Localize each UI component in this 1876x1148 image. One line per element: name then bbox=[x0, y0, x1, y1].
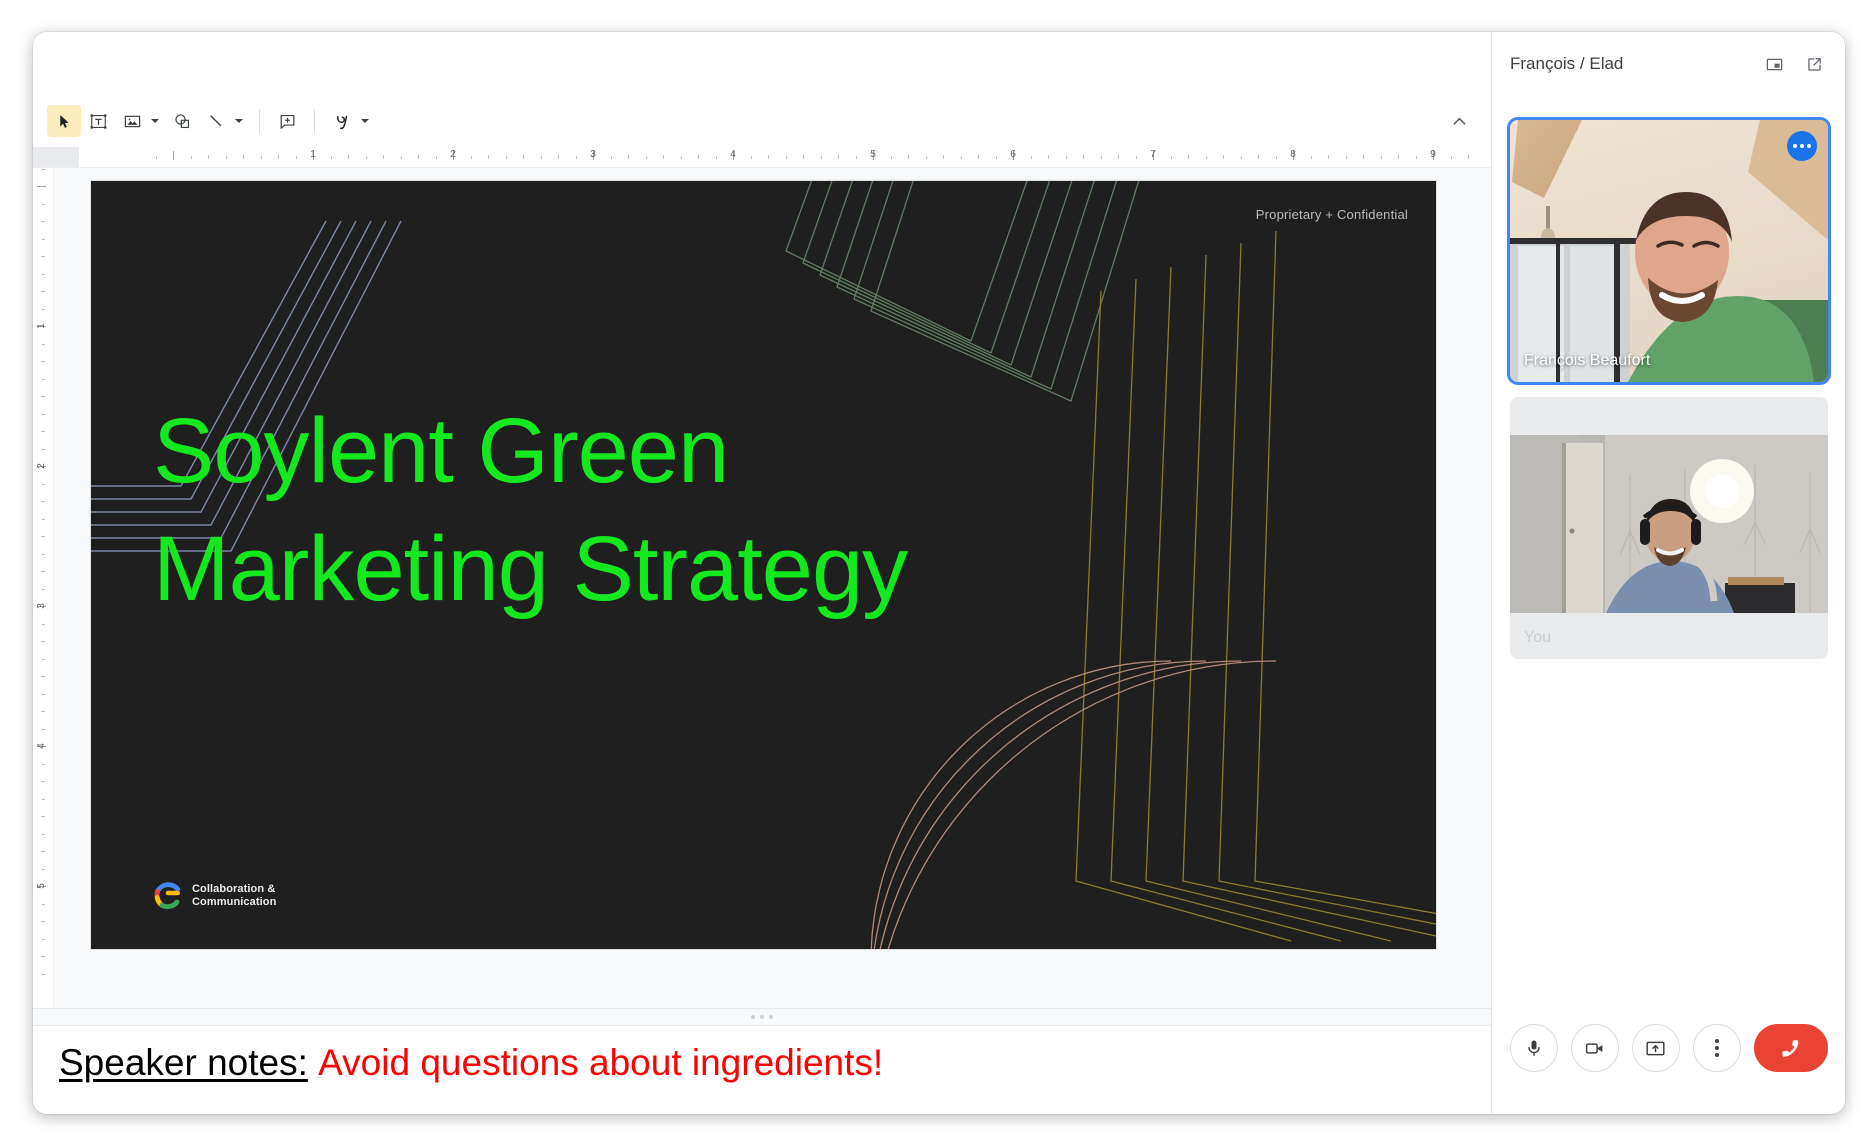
line-tool-button[interactable] bbox=[199, 105, 233, 137]
ruler-tick bbox=[611, 156, 612, 159]
dot bbox=[1715, 1046, 1719, 1050]
speaker-notes-text: Avoid questions about ingredients! bbox=[318, 1042, 883, 1083]
app-window: 123456789 12345 bbox=[33, 32, 1845, 1114]
ruler-tick bbox=[41, 676, 45, 677]
ruler-tick bbox=[42, 169, 45, 170]
meeting-panel: François / Elad bbox=[1492, 32, 1845, 1114]
ruler-tick bbox=[42, 554, 45, 555]
editor-toolbar bbox=[33, 95, 1491, 147]
ruler-tick bbox=[42, 309, 45, 310]
ruler-tick bbox=[41, 641, 45, 642]
ruler-tick bbox=[42, 204, 45, 205]
ruler-tick bbox=[42, 904, 45, 905]
slide-logo-text: Collaboration & Communication bbox=[192, 883, 276, 910]
ruler-number: 6 bbox=[1010, 149, 1016, 160]
slide-title-line-2: Marketing Strategy bbox=[153, 511, 1223, 629]
ruler-tick bbox=[1118, 155, 1119, 159]
ruler-tick bbox=[1258, 155, 1259, 159]
participant-tiles: François Beaufort bbox=[1492, 96, 1845, 996]
ruler-tick bbox=[42, 519, 45, 520]
meeting-controls bbox=[1492, 996, 1845, 1114]
chevron-down-icon bbox=[360, 116, 370, 126]
speaker-notes-area[interactable]: Speaker notes: Avoid questions about ing… bbox=[33, 1026, 1491, 1114]
ruler-tick bbox=[41, 396, 45, 397]
ruler-tick bbox=[41, 536, 45, 537]
ruler-tick bbox=[978, 155, 979, 159]
ruler-tick bbox=[1241, 156, 1242, 159]
ruler-tick bbox=[1136, 156, 1137, 159]
ruler-tick bbox=[41, 711, 45, 712]
splitter-dot bbox=[760, 1015, 764, 1019]
ruler-number: 9 bbox=[1430, 149, 1436, 160]
ruler-tick bbox=[401, 156, 402, 159]
shape-tool-button[interactable] bbox=[165, 105, 199, 137]
ruler-tick bbox=[42, 484, 45, 485]
ruler-tick bbox=[41, 501, 45, 502]
ruler-number: 3 bbox=[36, 603, 47, 609]
ruler-tick bbox=[1451, 156, 1452, 159]
ruler-tick bbox=[506, 156, 507, 159]
ruler-corner bbox=[33, 147, 79, 167]
ruler-tick bbox=[41, 291, 45, 292]
present-screen-icon bbox=[1645, 1038, 1666, 1059]
ruler-tick bbox=[1346, 156, 1347, 159]
ruler-tick bbox=[42, 974, 45, 975]
participant-video-feed bbox=[1510, 435, 1828, 613]
ruler-tick bbox=[41, 256, 45, 257]
add-comment-icon bbox=[278, 112, 297, 131]
ruler-tick bbox=[803, 155, 804, 159]
ruler-number: 4 bbox=[36, 743, 47, 749]
ruler-tick bbox=[41, 781, 45, 782]
toolbar-divider-2 bbox=[314, 109, 315, 133]
ruler-tick bbox=[908, 155, 909, 159]
ruler-tick bbox=[418, 155, 419, 159]
microphone-icon bbox=[1524, 1038, 1544, 1058]
ruler-tick bbox=[331, 156, 332, 159]
ruler-tick bbox=[42, 799, 45, 800]
participant-tile[interactable]: François Beaufort bbox=[1510, 120, 1828, 382]
splitter-dot bbox=[769, 1015, 773, 1019]
ruler-tick bbox=[42, 624, 45, 625]
stage-wrapper: 12345 bbox=[33, 168, 1491, 1008]
ruler-tick bbox=[41, 921, 45, 922]
participant-tile[interactable]: You bbox=[1510, 397, 1828, 659]
line-icon bbox=[207, 112, 226, 131]
slide-surface[interactable]: Proprietary + Confidential Soylent Green… bbox=[91, 181, 1436, 949]
horizontal-ruler-track: 123456789 bbox=[79, 147, 1491, 167]
ruler-tick bbox=[296, 156, 297, 159]
more-options-icon bbox=[1807, 144, 1811, 148]
participant-name: François Beaufort bbox=[1524, 352, 1650, 370]
vertical-ruler[interactable]: 12345 bbox=[33, 168, 54, 1008]
cursor-icon bbox=[56, 113, 73, 130]
ruler-number: 3 bbox=[590, 149, 596, 160]
ruler-tick bbox=[1083, 155, 1084, 159]
textbox-tool-button[interactable] bbox=[81, 105, 115, 137]
ruler-tick bbox=[42, 379, 45, 380]
ruler-tick bbox=[41, 361, 45, 362]
ruler-number: 8 bbox=[1290, 149, 1296, 160]
ruler-tick bbox=[42, 239, 45, 240]
ruler-tick bbox=[681, 156, 682, 159]
ruler-tick bbox=[838, 155, 839, 159]
ruler-tick bbox=[261, 156, 262, 159]
speaker-notes-label: Speaker notes: bbox=[59, 1042, 308, 1083]
ruler-tick bbox=[191, 156, 192, 159]
ruler-tick bbox=[42, 589, 45, 590]
video-camera-icon bbox=[1584, 1038, 1605, 1059]
ruler-tick bbox=[1066, 156, 1067, 159]
ruler-tick bbox=[1101, 156, 1102, 159]
ruler-tick bbox=[42, 939, 45, 940]
ruler-number: 1 bbox=[310, 149, 316, 160]
image-tool-dropdown[interactable] bbox=[147, 105, 163, 137]
ruler-tick bbox=[961, 156, 962, 159]
select-tool-button[interactable] bbox=[47, 105, 81, 137]
ruler-tick bbox=[37, 186, 46, 187]
ruler-tick bbox=[1381, 156, 1382, 159]
dot bbox=[1715, 1039, 1719, 1043]
ruler-tick bbox=[1171, 156, 1172, 159]
tile-more-options-button[interactable] bbox=[1787, 131, 1817, 161]
ruler-tick bbox=[42, 274, 45, 275]
ruler-tick bbox=[366, 156, 367, 159]
ruler-tick bbox=[996, 156, 997, 159]
ruler-tick bbox=[698, 155, 699, 159]
ruler-tick bbox=[41, 816, 45, 817]
ruler-tick bbox=[42, 834, 45, 835]
ruler-tick bbox=[42, 449, 45, 450]
ruler-tick bbox=[471, 156, 472, 159]
slide-title-line-1: Soylent Green bbox=[153, 393, 1223, 511]
ruler-tick bbox=[383, 155, 384, 159]
ruler-tick bbox=[226, 156, 227, 159]
open-in-new-button[interactable] bbox=[1799, 49, 1829, 79]
ruler-tick bbox=[436, 156, 437, 159]
end-call-icon bbox=[1778, 1035, 1804, 1061]
ruler-tick bbox=[41, 956, 45, 957]
ruler-tick bbox=[1031, 156, 1032, 159]
horizontal-ruler[interactable]: 123456789 bbox=[33, 147, 1491, 168]
chevron-down-icon bbox=[150, 116, 160, 126]
comment-tool-button[interactable] bbox=[270, 105, 304, 137]
ruler-tick bbox=[891, 156, 892, 159]
toolbar-divider-1 bbox=[259, 109, 260, 133]
ruler-tick bbox=[173, 151, 174, 160]
picture-in-picture-icon bbox=[1765, 55, 1784, 74]
shape-icon bbox=[173, 112, 192, 131]
editor-top-strip bbox=[33, 32, 1491, 95]
ruler-tick bbox=[42, 414, 45, 415]
ruler-tick bbox=[716, 156, 717, 159]
meeting-title: François / Elad bbox=[1510, 54, 1749, 74]
ruler-tick bbox=[1048, 155, 1049, 159]
microphone-button[interactable] bbox=[1510, 1024, 1558, 1072]
slide-canvas[interactable]: Proprietary + Confidential Soylent Green… bbox=[54, 168, 1491, 1008]
ruler-tick bbox=[1363, 155, 1364, 159]
ruler-tick bbox=[523, 155, 524, 159]
ruler-tick bbox=[926, 156, 927, 159]
ruler-tick bbox=[156, 156, 157, 159]
ruler-number: 7 bbox=[1150, 149, 1156, 160]
ruler-number: 5 bbox=[36, 883, 47, 889]
image-icon bbox=[123, 112, 142, 131]
ruler-tick bbox=[1416, 156, 1417, 159]
ruler-tick bbox=[1223, 155, 1224, 159]
ruler-tick bbox=[541, 156, 542, 159]
ruler-tick bbox=[663, 155, 664, 159]
image-tool-button[interactable] bbox=[115, 105, 149, 137]
ruler-tick bbox=[278, 155, 279, 159]
more-options-icon bbox=[1800, 144, 1804, 148]
ruler-tick bbox=[856, 156, 857, 159]
ruler-tick bbox=[751, 156, 752, 159]
slides-editor: 123456789 12345 bbox=[33, 32, 1492, 1114]
ruler-number: 4 bbox=[730, 149, 736, 160]
present-button[interactable] bbox=[1632, 1024, 1680, 1072]
ruler-number: 1 bbox=[36, 323, 47, 329]
meeting-header: François / Elad bbox=[1492, 32, 1845, 96]
google-c-logo-icon bbox=[153, 881, 183, 911]
ruler-tick bbox=[1276, 156, 1277, 159]
line-tool-dropdown[interactable] bbox=[231, 105, 247, 137]
slide-logo: Collaboration & Communication bbox=[153, 881, 276, 911]
ruler-tick bbox=[41, 221, 45, 222]
slide-logo-line-1: Collaboration & bbox=[192, 883, 276, 896]
speaker-notes-line: Speaker notes: Avoid questions about ing… bbox=[59, 1042, 1465, 1085]
more-options-icon bbox=[1793, 144, 1797, 148]
participant-video-feed bbox=[1510, 120, 1828, 382]
ruler-tick bbox=[786, 156, 787, 159]
ruler-tick bbox=[42, 694, 45, 695]
hangup-button[interactable] bbox=[1754, 1024, 1828, 1072]
ruler-tick bbox=[1468, 155, 1469, 159]
ruler-tick bbox=[628, 155, 629, 159]
splitter-dot bbox=[751, 1015, 755, 1019]
ruler-tick bbox=[42, 729, 45, 730]
ruler-tick bbox=[821, 156, 822, 159]
more-vertical-icon bbox=[1715, 1039, 1719, 1057]
ruler-tick bbox=[1328, 155, 1329, 159]
open-in-new-icon bbox=[1805, 55, 1824, 74]
notes-splitter-handle[interactable] bbox=[33, 1008, 1491, 1026]
ruler-tick bbox=[646, 156, 647, 159]
ruler-number: 2 bbox=[36, 463, 47, 469]
ruler-tick bbox=[1311, 156, 1312, 159]
slide-title[interactable]: Soylent Green Marketing Strategy bbox=[153, 393, 1223, 629]
confidential-label: Proprietary + Confidential bbox=[1256, 207, 1408, 222]
ruler-tick bbox=[558, 155, 559, 159]
ruler-tick bbox=[576, 156, 577, 159]
participant-name: You bbox=[1524, 629, 1551, 647]
ruler-number: 2 bbox=[450, 149, 456, 160]
more-options-button[interactable] bbox=[1693, 1024, 1741, 1072]
ruler-tick bbox=[768, 155, 769, 159]
ruler-tick bbox=[41, 431, 45, 432]
dot bbox=[1715, 1053, 1719, 1057]
vertical-ruler-track: 12345 bbox=[33, 168, 53, 1008]
ruler-tick bbox=[488, 155, 489, 159]
camera-button[interactable] bbox=[1571, 1024, 1619, 1072]
ruler-tick bbox=[208, 155, 209, 159]
ruler-tick bbox=[1188, 155, 1189, 159]
screen: 123456789 12345 bbox=[0, 0, 1876, 1148]
ruler-tick bbox=[243, 155, 244, 159]
ruler-tick bbox=[943, 155, 944, 159]
ruler-tick bbox=[42, 869, 45, 870]
chevron-down-icon bbox=[234, 116, 244, 126]
collapse-toolbar-button[interactable] bbox=[1445, 107, 1473, 135]
ruler-tick bbox=[1206, 156, 1207, 159]
pen-tool-dropdown[interactable] bbox=[357, 105, 373, 137]
ruler-tick bbox=[41, 851, 45, 852]
ruler-tick bbox=[42, 764, 45, 765]
pen-tool-button[interactable] bbox=[325, 105, 359, 137]
ruler-tick bbox=[42, 344, 45, 345]
picture-in-picture-button[interactable] bbox=[1759, 49, 1789, 79]
ruler-number: 5 bbox=[870, 149, 876, 160]
ruler-tick bbox=[1398, 155, 1399, 159]
chevron-up-icon bbox=[1452, 114, 1467, 129]
ruler-tick bbox=[42, 659, 45, 660]
ruler-tick bbox=[41, 571, 45, 572]
curve-pen-icon bbox=[332, 111, 353, 132]
ruler-tick bbox=[348, 155, 349, 159]
slide-logo-line-2: Communication bbox=[192, 896, 276, 909]
text-box-icon bbox=[89, 112, 108, 131]
